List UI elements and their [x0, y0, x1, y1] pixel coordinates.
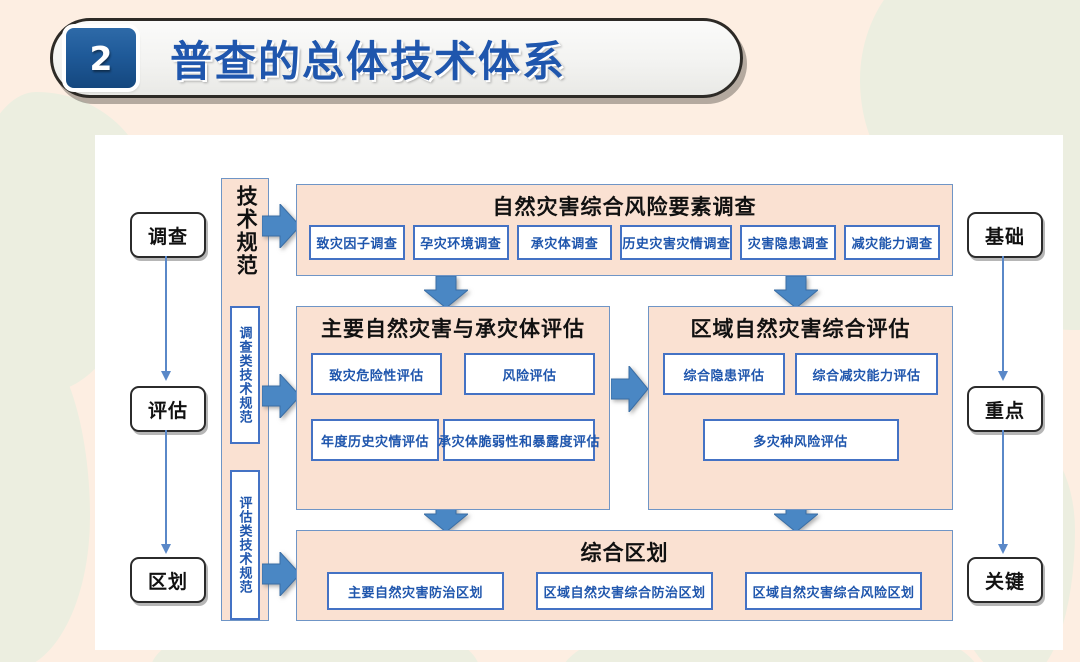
left-connector-assess-to-zoning: [165, 430, 167, 545]
right-stage-label: 重点: [985, 396, 1025, 423]
zoning-item-major-disaster-prevention[interactable]: 主要自然灾害防治区划: [327, 572, 504, 610]
right-stage-focus: 重点: [967, 386, 1043, 432]
hazard-item-annual-history[interactable]: 年度历史灾情评估: [311, 419, 439, 461]
survey-item-hazard-factor[interactable]: 致灾因子调查: [309, 225, 405, 260]
regional-item-hidden-danger[interactable]: 综合隐患评估: [663, 353, 785, 395]
right-stage-label: 关键: [985, 567, 1025, 594]
left-stage-label: 调查: [148, 222, 188, 249]
panel-hazard-assessment-title: 主要自然灾害与承灾体评估: [297, 313, 609, 343]
panel-regional-assessment-row-1: 综合隐患评估 综合减灾能力评估: [649, 353, 952, 395]
panel-zoning-items: 主要自然灾害防治区划 区域自然灾害综合防治区划 区域自然灾害综合风险区划: [297, 572, 952, 610]
panel-regional-assessment: 区域自然灾害综合评估 综合隐患评估 综合减灾能力评估 多灾种风险评估: [648, 306, 953, 510]
panel-zoning-title: 综合区划: [297, 537, 952, 567]
hazard-item-risk-assessment[interactable]: 风险评估: [464, 353, 595, 395]
left-stage-label: 区划: [148, 567, 188, 594]
section-banner: 2 普查的总体技术体系: [50, 18, 743, 98]
right-connector-focus-to-key: [1002, 430, 1004, 545]
left-stage-assessment: 评估: [130, 386, 206, 432]
arrow-right-to-survey-panel: [262, 204, 300, 248]
arrow-down-survey-to-hazard: [424, 276, 468, 308]
page-title: 普查的总体技术体系: [170, 28, 566, 89]
arrow-right-hazard-to-regional: [611, 366, 648, 412]
left-connector-survey-to-assess: [165, 256, 167, 372]
regional-item-multi-hazard-risk[interactable]: 多灾种风险评估: [703, 419, 899, 461]
hazard-item-danger-assessment[interactable]: 致灾危险性评估: [311, 353, 442, 395]
zoning-item-regional-comprehensive-prevention[interactable]: 区域自然灾害综合防治区划: [536, 572, 713, 610]
zoning-item-regional-comprehensive-risk[interactable]: 区域自然灾害综合风险区划: [745, 572, 922, 610]
survey-item-hidden-danger[interactable]: 灾害隐患调查: [740, 225, 836, 260]
panel-hazard-assessment: 主要自然灾害与承灾体评估 致灾危险性评估 风险评估 年度历史灾情评估 承灾体脆弱…: [296, 306, 610, 510]
panel-survey-items: 致灾因子调查 孕灾环境调查 承灾体调查 历史灾害灾情调查 灾害隐患调查 减灾能力…: [297, 225, 952, 260]
arrow-down-survey-to-regional: [774, 276, 818, 308]
hazard-item-vulnerability-exposure[interactable]: 承灾体脆弱性和暴露度评估: [443, 419, 595, 461]
panel-hazard-assessment-row-2: 年度历史灾情评估 承灾体脆弱性和暴露度评估: [297, 419, 609, 461]
panel-regional-assessment-title: 区域自然灾害综合评估: [649, 313, 952, 343]
arrow-right-to-zoning-panel: [262, 552, 300, 596]
spec-item-assessment-standards[interactable]: 评估类技术规范: [230, 470, 260, 620]
survey-item-hazard-environment[interactable]: 孕灾环境调查: [413, 225, 509, 260]
survey-item-exposure[interactable]: 承灾体调查: [517, 225, 613, 260]
panel-survey: 自然灾害综合风险要素调查 致灾因子调查 孕灾环境调查 承灾体调查 历史灾害灾情调…: [296, 184, 953, 276]
right-stage-label: 基础: [985, 222, 1025, 249]
section-number-badge: 2: [66, 28, 136, 88]
arrow-right-to-hazard-panel: [262, 374, 300, 418]
panel-zoning: 综合区划 主要自然灾害防治区划 区域自然灾害综合防治区划 区域自然灾害综合风险区…: [296, 530, 953, 621]
panel-hazard-assessment-row-1: 致灾危险性评估 风险评估: [297, 353, 609, 395]
panel-regional-assessment-row-2: 多灾种风险评估: [649, 419, 952, 461]
right-connector-foundation-to-focus: [1002, 256, 1004, 372]
spec-item-survey-standards[interactable]: 调查类技术规范: [230, 306, 260, 444]
right-stage-foundation: 基础: [967, 212, 1043, 258]
right-stage-key: 关键: [967, 557, 1043, 603]
left-stage-survey: 调查: [130, 212, 206, 258]
survey-item-historical-disaster[interactable]: 历史灾害灾情调查: [620, 225, 732, 260]
panel-survey-title: 自然灾害综合风险要素调查: [297, 191, 952, 221]
technical-standards-title: 技术规范: [234, 185, 256, 302]
regional-item-mitigation-capacity[interactable]: 综合减灾能力评估: [795, 353, 938, 395]
left-stage-label: 评估: [148, 396, 188, 423]
left-stage-zoning: 区划: [130, 557, 206, 603]
survey-item-mitigation-capacity[interactable]: 减灾能力调查: [844, 225, 940, 260]
